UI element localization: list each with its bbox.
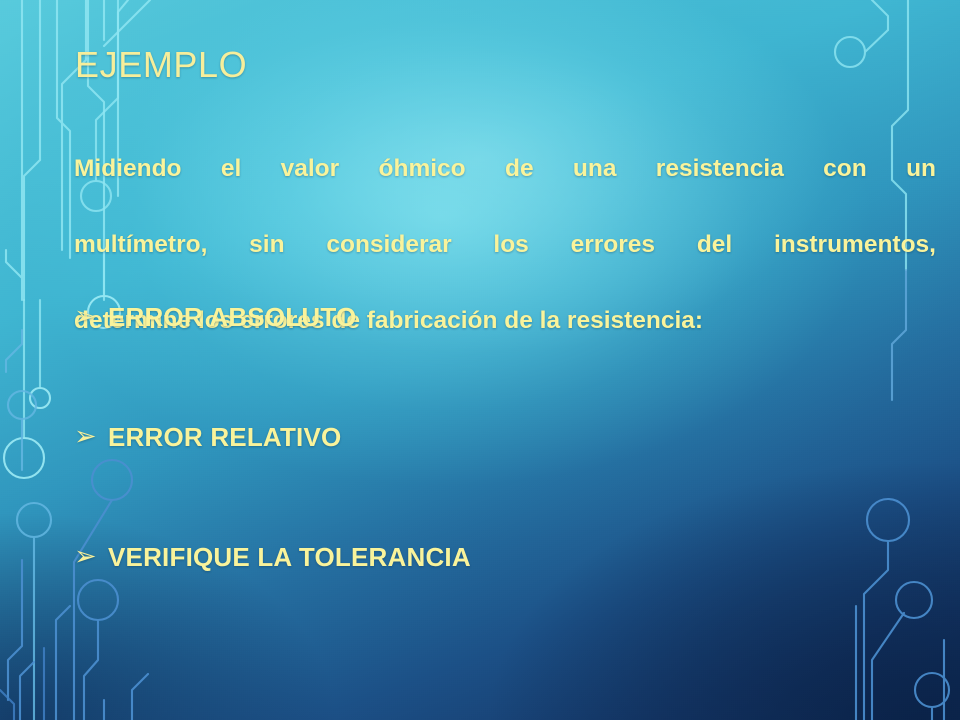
slide-content: EJEMPLO Midiendo el valor óhmico de una … <box>0 0 960 720</box>
bullet-label-verifique-tolerancia: VERIFIQUE LA TOLERANCIA <box>108 540 471 574</box>
list-item: ➢ ERROR ABSOLUTO <box>74 300 934 420</box>
page-title: EJEMPLO <box>75 44 247 86</box>
slide-canvas: EJEMPLO Midiendo el valor óhmico de una … <box>0 0 960 720</box>
list-item: ➢ VERIFIQUE LA TOLERANCIA <box>74 540 934 660</box>
bullet-label-error-relativo: ERROR RELATIVO <box>108 420 341 454</box>
list-item: ➢ ERROR RELATIVO <box>74 420 934 540</box>
paragraph-line-2: multímetro, sin considerar los errores d… <box>74 226 936 302</box>
arrowhead-bullet-icon: ➢ <box>74 419 108 453</box>
arrowhead-bullet-icon: ➢ <box>74 299 108 333</box>
paragraph-line-1: Midiendo el valor óhmico de una resisten… <box>74 150 936 226</box>
bullet-label-error-absoluto: ERROR ABSOLUTO <box>108 300 356 334</box>
arrowhead-bullet-icon: ➢ <box>74 539 108 573</box>
bullet-list: ➢ ERROR ABSOLUTO ➢ ERROR RELATIVO ➢ VERI… <box>74 300 934 660</box>
